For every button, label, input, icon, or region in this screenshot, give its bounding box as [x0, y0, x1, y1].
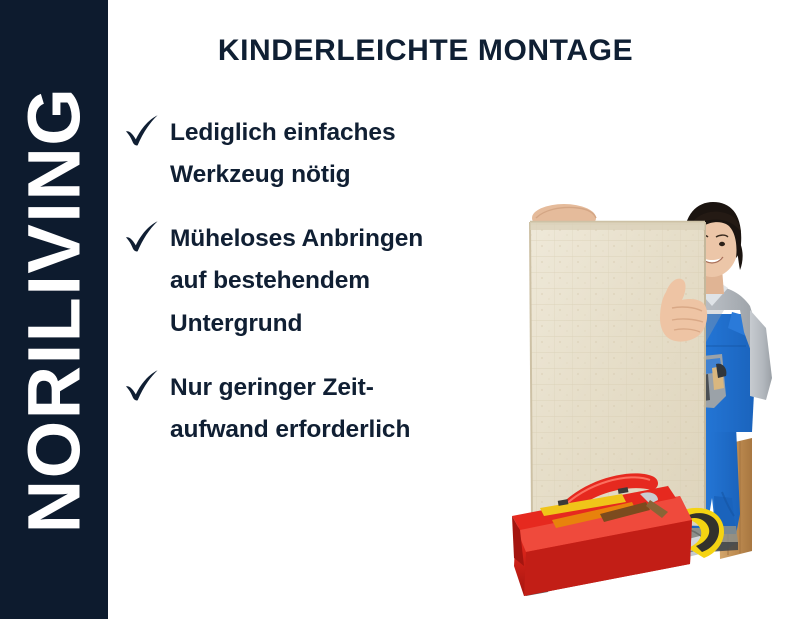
list-item: Nur geringer Zeit- aufwand erforderlich: [124, 367, 524, 451]
list-item-line: Müheloses Anbringen: [170, 218, 524, 260]
list-item: Müheloses Anbringen auf bestehendem Unte…: [124, 218, 524, 344]
brand-name: NORILIVING: [12, 86, 97, 533]
brand-sidebar: NORILIVING: [0, 0, 108, 619]
list-item: Lediglich einfaches Werkzeug nötig: [124, 112, 524, 196]
poster-canvas: NORILIVING KINDERLEICHTE MONTAGE Ledigli…: [0, 0, 799, 619]
list-item-text: Nur geringer Zeit- aufwand erforderlich: [170, 367, 524, 451]
check-mark-icon: [124, 112, 170, 148]
list-item-text: Lediglich einfaches Werkzeug nötig: [170, 112, 524, 196]
list-item-text: Müheloses Anbringen auf bestehendem Unte…: [170, 218, 524, 344]
benefit-list: Lediglich einfaches Werkzeug nötig Mühel…: [124, 112, 524, 473]
page-title: KINDERLEICHTE MONTAGE: [108, 34, 743, 68]
worker-illustration: [500, 96, 799, 619]
check-mark-icon: [124, 367, 170, 403]
check-mark-icon: [124, 218, 170, 254]
list-item-line: Untergrund: [170, 303, 524, 345]
list-item-line: Nur geringer Zeit-: [170, 367, 524, 409]
list-item-line: Werkzeug nötig: [170, 154, 524, 196]
list-item-line: Lediglich einfaches: [170, 112, 524, 154]
worker-photo: [500, 96, 799, 619]
list-item-line: auf bestehendem: [170, 260, 524, 302]
list-item-line: aufwand erforderlich: [170, 409, 524, 451]
